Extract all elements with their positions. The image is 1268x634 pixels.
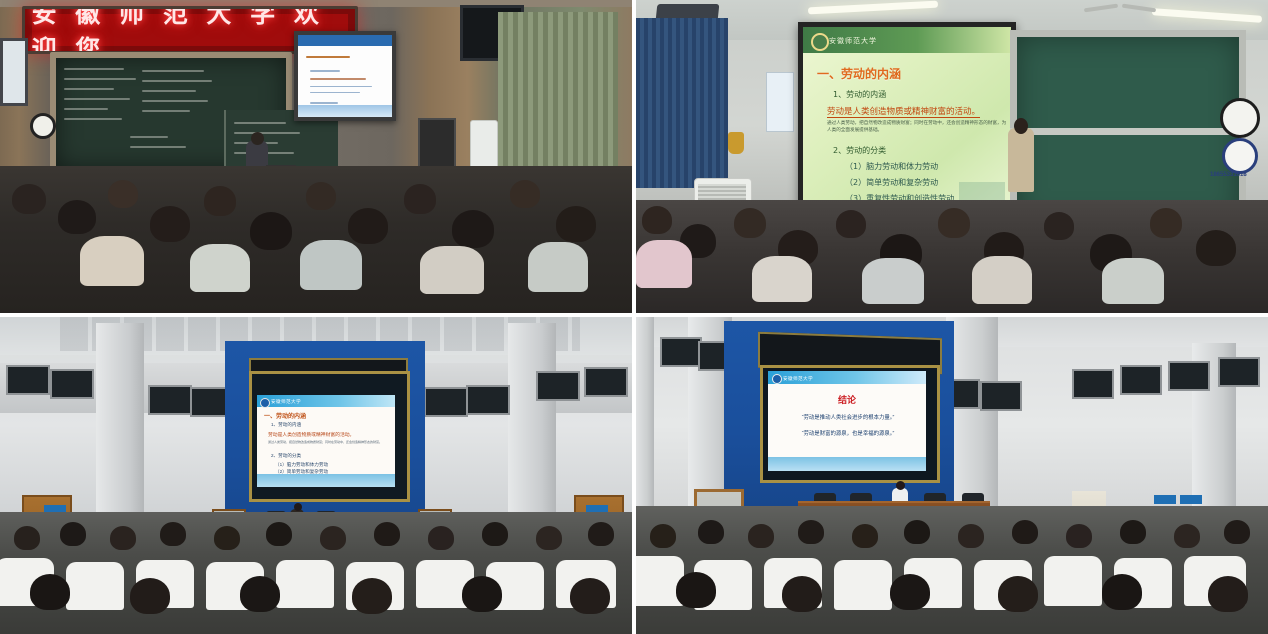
university-logo-icon [260, 398, 270, 408]
auditorium-scene: 安徽师范大学 一、劳动的内涵 1、劳动的内涵 劳动是人类创造物质或精神财富的活动… [0, 313, 632, 634]
gutter-vertical [632, 0, 636, 634]
slide-decoration-box [959, 182, 1005, 200]
slide-line-3: 通过人类劳动，把自然物改造成物质财富；同时在劳动中，还会创造精神形态的财富。 [268, 440, 388, 445]
exit-sign [1180, 495, 1202, 504]
notice-poster [766, 72, 794, 132]
acoustic-panel [424, 387, 468, 417]
classroom-scene: 安徽师范大学 一、劳动的内涵 1、劳动的内涵 劳动是人类创造物质或精神财富的活动… [632, 0, 1268, 313]
acoustic-panel [6, 365, 50, 395]
photo-top-right: 安徽师范大学 一、劳动的内涵 1、劳动的内涵 劳动是人类创造物质或精神财富的活动… [632, 0, 1268, 313]
lecture-hall-scene: 安 徽 师 范 大 学 欢 迎 您 [0, 0, 632, 313]
university-logo-icon [772, 374, 782, 384]
slide-line-5: （1）脑力劳动和体力劳动 [275, 462, 328, 468]
exit-sign [1154, 495, 1176, 504]
wall-clock-icon [1220, 98, 1260, 138]
acoustic-panel [50, 369, 94, 399]
presentation-slide: 安徽师范大学 一、劳动的内涵 1、劳动的内涵 劳动是人类创造物质或精神财富的活动… [803, 27, 1011, 210]
slide-line-2: 劳动是人类创造物质或精神财富的活动。 [827, 105, 980, 118]
audience-area [632, 200, 1268, 313]
acoustic-panel [1168, 361, 1210, 391]
projection-screen [294, 31, 396, 121]
slide-line-1: 1、劳动的内涵 [833, 89, 886, 100]
seated-presenter-head [294, 503, 302, 511]
acoustic-panel [148, 385, 192, 415]
photo-top-left: 安 徽 师 范 大 学 欢 迎 您 [0, 0, 632, 313]
audience-area [0, 512, 632, 634]
wall-clock-icon [30, 113, 56, 139]
seated-presenter-head [896, 481, 905, 490]
photo-collage: 安 徽 师 范 大 学 欢 迎 您 [0, 0, 1268, 634]
window-blinds [632, 18, 728, 188]
teacher-head [251, 132, 264, 145]
slide-line-5: （1）脑力劳动和体力劳动 [845, 161, 938, 172]
slide-header-band [298, 35, 392, 46]
photo-bottom-right: 安徽师范大学 结论 “劳动是推动人类社会进步的根本力量。” “劳动是财富的源泉，… [632, 313, 1268, 634]
slide-line-1: 1、劳动的内涵 [271, 422, 301, 428]
presentation-slide: 安徽师范大学 结论 “劳动是推动人类社会进步的根本力量。” “劳动是财富的源泉，… [768, 371, 926, 471]
slide-line-2: 劳动是人类创造物质或精神财富的活动。 [268, 431, 354, 438]
university-logo-icon [811, 33, 829, 51]
slide-title: 一、劳动的内涵 [264, 411, 306, 420]
slide-body [298, 46, 392, 105]
ceiling-fan-icon [1084, 2, 1160, 14]
slide-title: 一、劳动的内涵 [817, 65, 901, 82]
slide-school-name: 安徽师范大学 [783, 376, 813, 382]
lecturer-figure [1008, 128, 1034, 192]
acoustic-panel [1120, 365, 1162, 395]
trophy [728, 132, 744, 154]
presentation-slide: 安徽师范大学 一、劳动的内涵 1、劳动的内涵 劳动是人类创造物质或精神财富的活动… [257, 395, 395, 487]
slide-school-name: 安徽师范大学 [829, 36, 877, 46]
audience-area [0, 166, 632, 313]
side-screen [0, 38, 28, 106]
slide-footer-band [298, 105, 392, 117]
acoustic-panel [584, 367, 628, 397]
slide-quote-1: “劳动是推动人类社会进步的根本力量。” [776, 413, 920, 421]
slide-line-3: 通过人类劳动，把自然物改造成物质财富；同时在劳动中，还会创造精神形态的财富，为人… [827, 121, 1007, 135]
slide-school-name: 安徽师范大学 [271, 399, 301, 405]
lecturer-head [1014, 118, 1028, 134]
slide-line-6: （2）简单劳动和复杂劳动 [845, 177, 938, 188]
slide-line-4: 2、劳动的分类 [271, 453, 301, 459]
acoustic-panel [536, 371, 580, 401]
acoustic-panel [980, 381, 1022, 411]
slide-footer-band [257, 474, 395, 487]
acoustic-panel [1218, 357, 1260, 387]
gutter-horizontal [0, 313, 1268, 317]
projection-screen: 安徽师范大学 一、劳动的内涵 1、劳动的内涵 劳动是人类创造物质或精神财富的活动… [798, 22, 1016, 215]
slide-footer-band [768, 457, 926, 471]
audience-area [632, 506, 1268, 634]
wall-phone-number: 18655331618 [1210, 172, 1247, 178]
wall-badge-icon [1222, 138, 1258, 174]
slide-line-4: 2、劳动的分类 [833, 145, 886, 156]
slide-title: 结论 [768, 393, 926, 406]
chalkboard-divider [1010, 128, 1232, 135]
photo-bottom-left: 安徽师范大学 一、劳动的内涵 1、劳动的内涵 劳动是人类创造物质或精神财富的活动… [0, 313, 632, 634]
acoustic-panel [1072, 369, 1114, 399]
auditorium-angled-scene: 安徽师范大学 结论 “劳动是推动人类社会进步的根本力量。” “劳动是财富的源泉，… [632, 313, 1268, 634]
slide-quote-2: “劳动是财富的源泉，也是幸福的源泉。” [776, 429, 920, 437]
acoustic-panel [466, 385, 510, 415]
acoustic-panel [660, 337, 702, 367]
